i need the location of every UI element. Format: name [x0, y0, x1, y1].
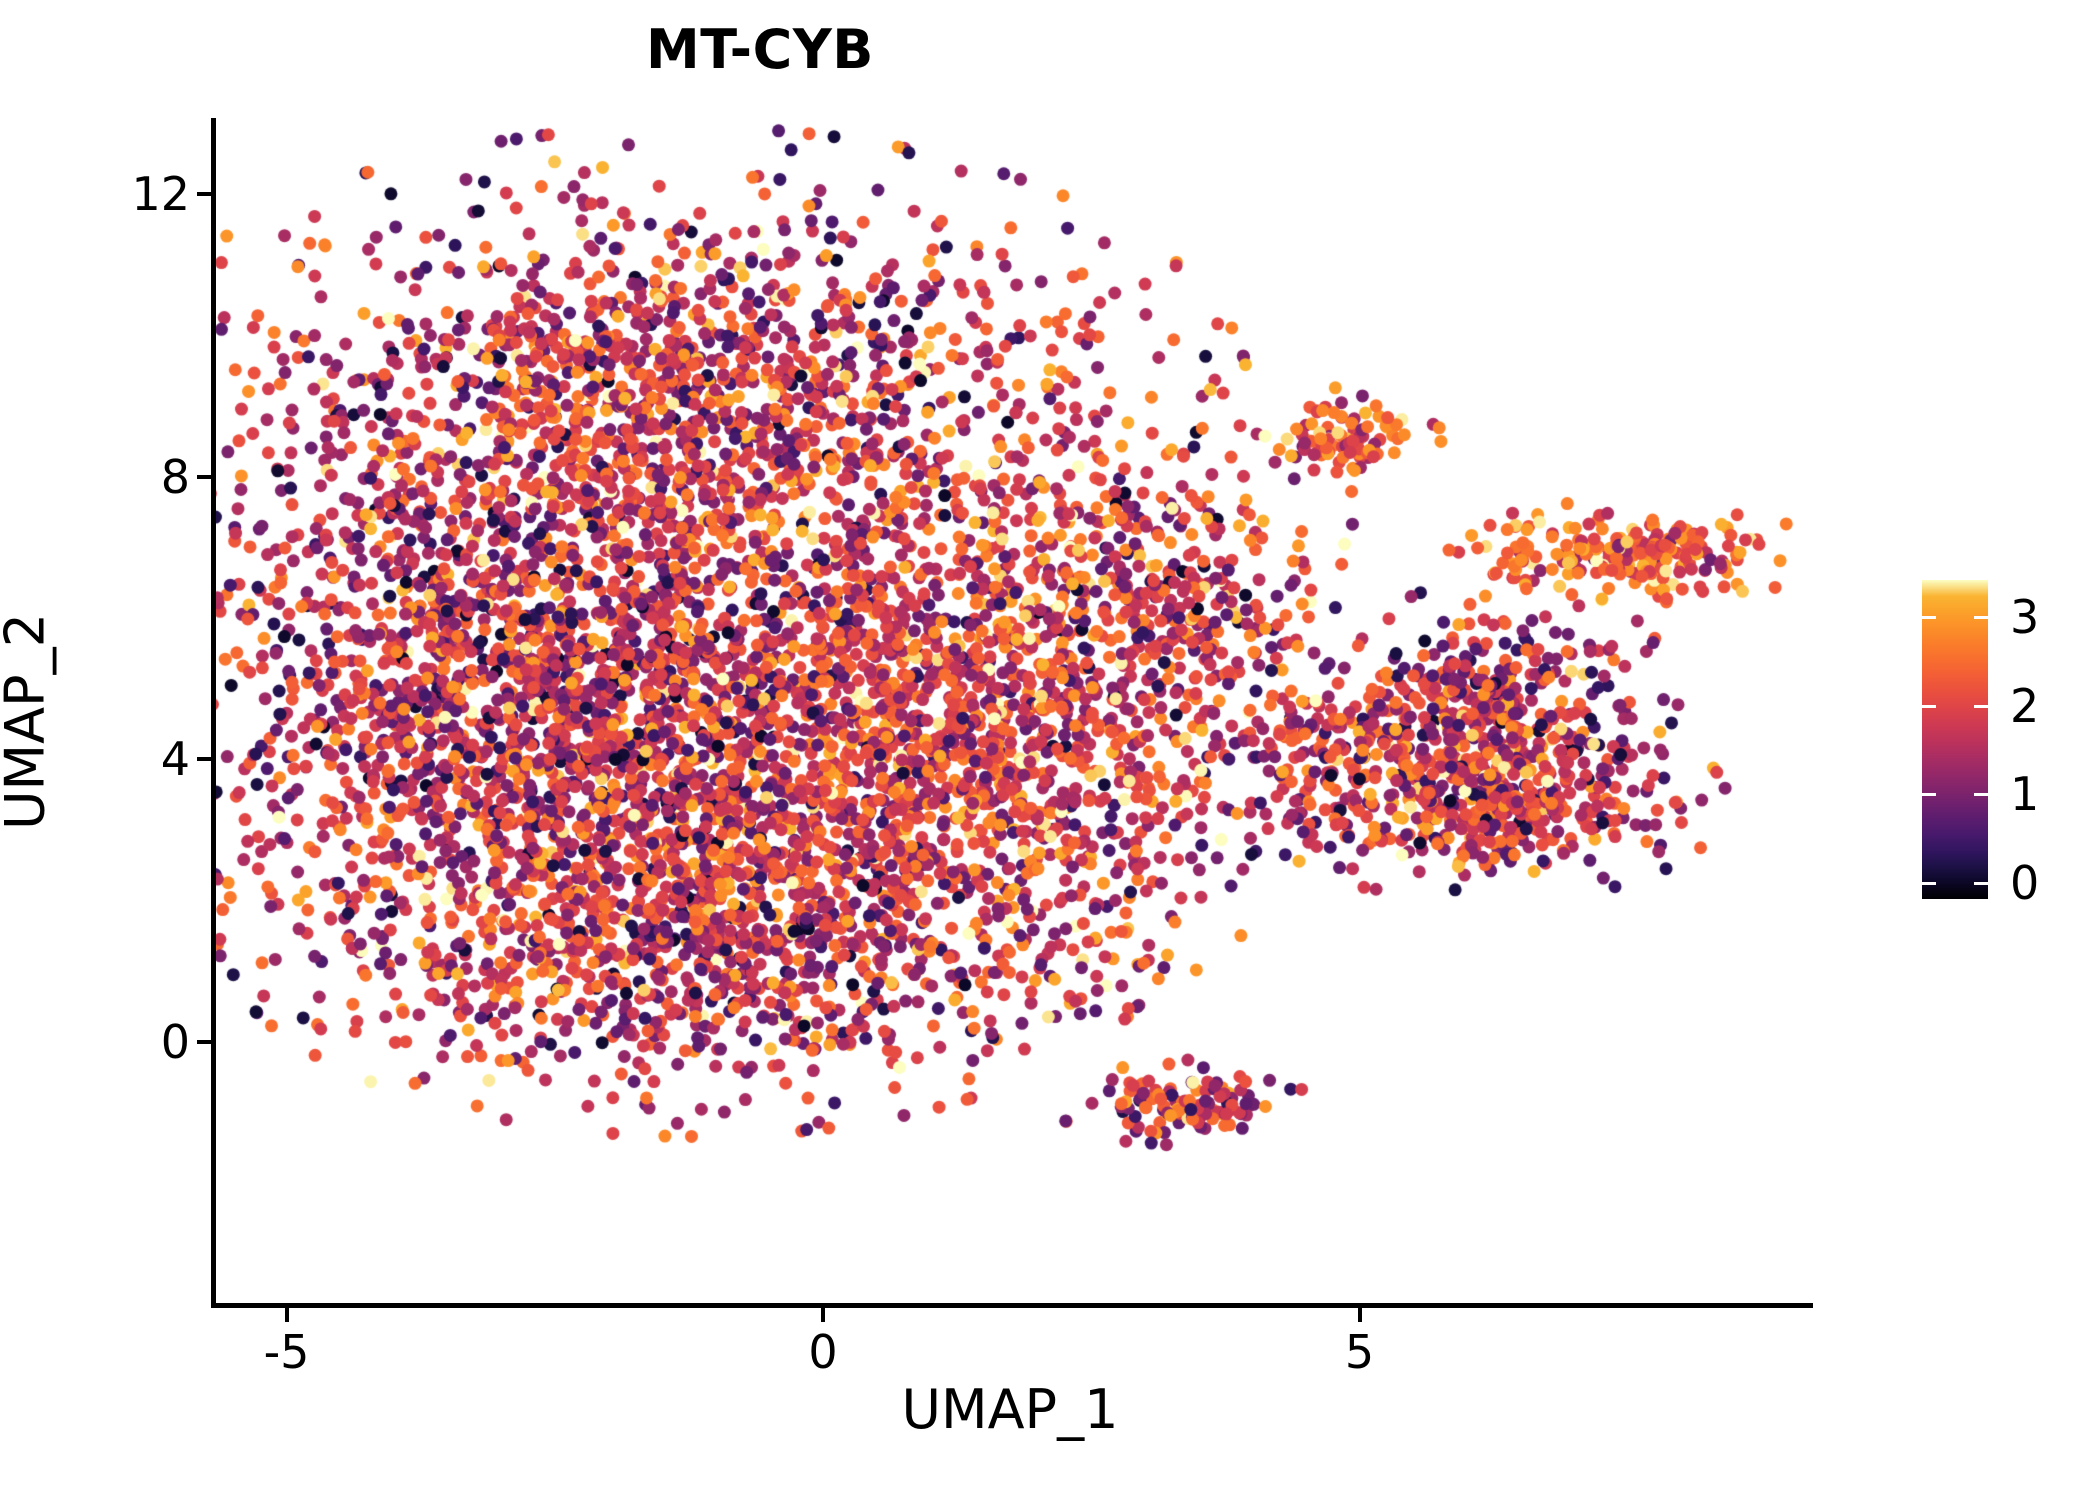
- umap-feature-plot: MT-CYB 04812 -505 UMAP_1 UMAP_2 0123: [0, 0, 2100, 1500]
- y-tick-label: 0: [161, 1015, 190, 1069]
- colorbar-tick-mark: [1922, 616, 1936, 619]
- colorbar-tick-mark: [1922, 705, 1936, 708]
- x-tick-mark: [1358, 1308, 1362, 1322]
- colorbar-tick-mark: [1974, 616, 1988, 619]
- x-tick-mark: [821, 1308, 825, 1322]
- colorbar-tick-mark: [1974, 793, 1988, 796]
- colorbar-tick-mark: [1974, 882, 1988, 885]
- y-tick-label: 4: [161, 732, 190, 786]
- y-axis-label: UMAP_2: [0, 122, 57, 1322]
- x-axis-label: UMAP_1: [0, 1378, 2020, 1441]
- y-tick-mark: [197, 757, 211, 761]
- y-tick-label: 8: [161, 450, 190, 504]
- colorbar-gradient: [1922, 580, 1988, 899]
- x-tick-label: 0: [808, 1325, 837, 1379]
- colorbar-tick-mark: [1974, 705, 1988, 708]
- colorbar-tick-label: 3: [2010, 590, 2039, 644]
- colorbar-tick-label: 1: [2010, 767, 2039, 821]
- page-title: MT-CYB: [0, 18, 1520, 81]
- x-axis-line: [211, 1303, 1813, 1308]
- colorbar-tick-label: 2: [2010, 679, 2039, 733]
- x-tick-mark: [285, 1308, 289, 1322]
- colorbar-tick-mark: [1922, 882, 1936, 885]
- y-tick-mark: [197, 475, 211, 479]
- y-tick-mark: [197, 1040, 211, 1044]
- x-tick-label: -5: [264, 1325, 310, 1379]
- x-tick-label: 5: [1345, 1325, 1374, 1379]
- colorbar-tick-label: 0: [2010, 856, 2039, 910]
- y-axis-line: [211, 118, 216, 1308]
- y-tick-label: 12: [131, 167, 190, 221]
- y-tick-mark: [197, 192, 211, 196]
- colorbar: [1922, 580, 1988, 899]
- scatter-plot-canvas: [213, 118, 1813, 1305]
- colorbar-tick-mark: [1922, 793, 1936, 796]
